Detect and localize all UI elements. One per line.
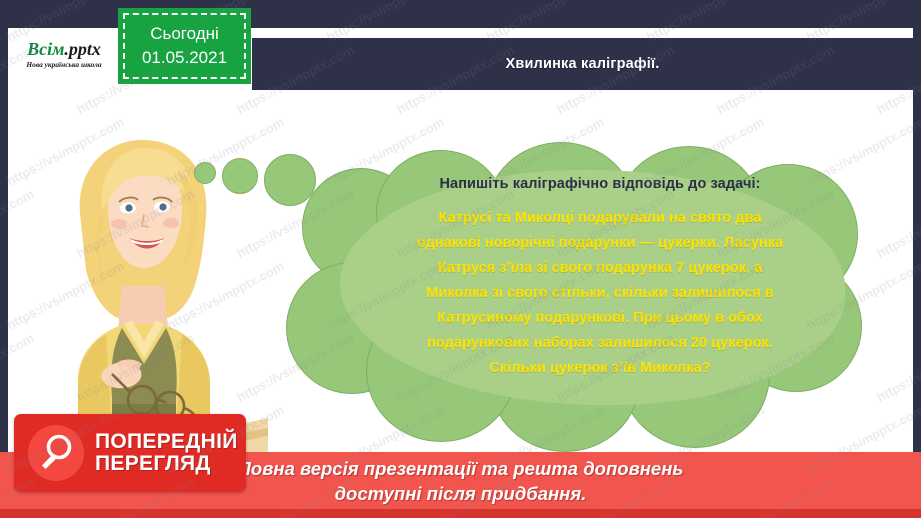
purchase-overlay-text: Повна версія презентації та решта доповн… (238, 456, 684, 506)
task-text: Катрусі та Миколці подарували на свято д… (300, 206, 900, 381)
frame-edge-left (0, 0, 8, 518)
task-line: Скільки цукерок з’їв Миколка? (300, 356, 900, 381)
today-date: 01.05.2021 (142, 48, 227, 68)
preview-badge-line1: ПОПЕРЕДНІЙ (95, 431, 238, 453)
thought-bubble-dot-medium (222, 158, 258, 194)
thought-bubble-dot-small (194, 162, 216, 184)
preview-badge[interactable]: ПОПЕРЕДНІЙ ПЕРЕГЛЯД (14, 414, 246, 492)
task-prompt: Напишіть каліграфічно відповідь до задач… (300, 176, 900, 192)
purchase-overlay-line2: доступні після придбання. (238, 481, 684, 506)
slide-canvas: Хвилинка каліграфії. Всім.pptx Нова укра… (0, 0, 921, 518)
preview-badge-line2: ПЕРЕГЛЯД (95, 453, 238, 475)
preview-badge-label: ПОПЕРЕДНІЙ ПЕРЕГЛЯД (95, 431, 238, 475)
task-line: подарункових наборах залишилося 20 цукер… (300, 331, 900, 356)
today-date-badge: Сьогодні 01.05.2021 (118, 8, 251, 84)
task-line: Катрусі та Миколці подарували на свято д… (300, 206, 900, 231)
brand-logo-text: Всім.pptx (27, 40, 101, 58)
today-label: Сьогодні (150, 24, 219, 44)
slide-header-bar: Хвилинка каліграфії. (252, 38, 913, 90)
brand-logo: Всім.pptx Нова українська школа (8, 28, 120, 80)
task-line: Миколка зі свого стільки, скільки залиши… (300, 281, 900, 306)
brand-logo-suffix: .pptx (64, 39, 101, 59)
task-line: однакові новорічні подарунки — цукерки. … (300, 231, 900, 256)
task-line: Катруся з’їла зі свого подарунка 7 цукер… (300, 256, 900, 281)
purchase-overlay-line1: Повна версія презентації та решта доповн… (238, 456, 684, 481)
task-line: Катрусиному подарункові. При цьому в обо… (300, 306, 900, 331)
brand-logo-prefix: Всім (27, 39, 64, 59)
frame-edge-right (913, 0, 921, 518)
brand-logo-subtitle: Нова українська школа (26, 60, 101, 69)
magnifier-icon (28, 425, 84, 481)
purchase-overlay-strip (0, 509, 921, 518)
page-title: Хвилинка каліграфії. (505, 56, 659, 72)
bubble-text-block: Напишіть каліграфічно відповідь до задач… (300, 176, 900, 381)
